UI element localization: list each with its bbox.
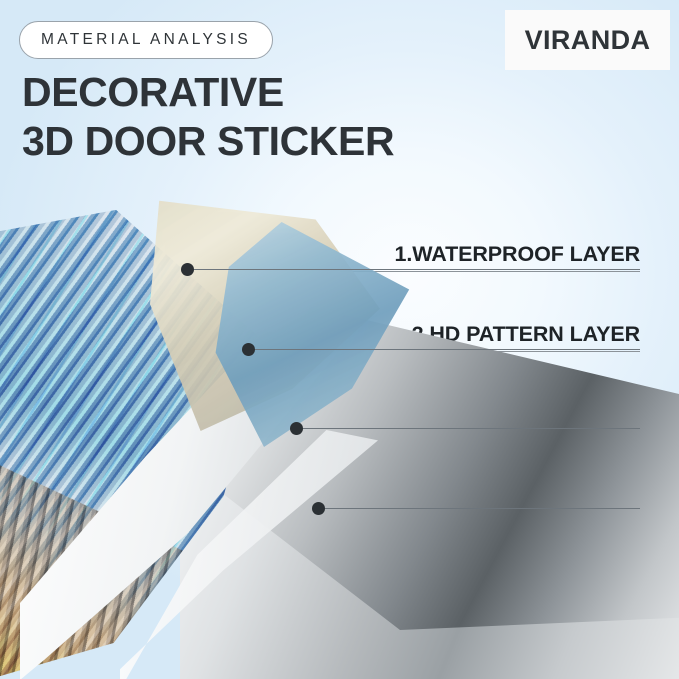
sticker-artwork (0, 0, 679, 679)
callout-dot-waterproof (181, 263, 194, 276)
leader-line-backing (324, 508, 640, 509)
leader-line-bonding (302, 428, 640, 429)
material-analysis-infographic: MATERIAL ANALYSIS DECORATIVE 3D DOOR STI… (0, 0, 679, 679)
callout-dot-backing (312, 502, 325, 515)
leader-line-waterproof (193, 269, 640, 270)
callout-dot-hd-pattern (242, 343, 255, 356)
callout-dot-bonding (290, 422, 303, 435)
leader-line-hd-pattern (254, 349, 640, 350)
